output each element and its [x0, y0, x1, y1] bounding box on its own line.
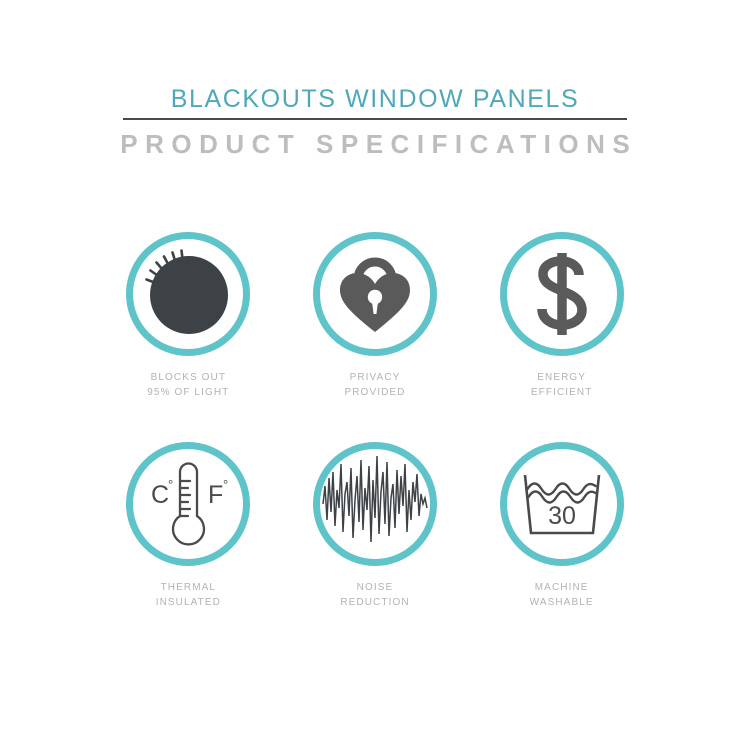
fahrenheit-degree: ° — [223, 477, 228, 492]
feature-grid: BLOCKS OUT 95% OF LIGHT PRIVACY PROVIDED — [95, 232, 655, 610]
icon-circle: C ° F ° — [126, 442, 250, 566]
caption-line-1: BLOCKS OUT — [147, 370, 229, 385]
feature-energy: ENERGY EFFICIENT — [468, 232, 655, 400]
icon-circle — [500, 232, 624, 356]
heart-padlock-icon — [332, 250, 418, 338]
feature-caption: ENERGY EFFICIENT — [531, 370, 593, 400]
blocked-sun-icon — [132, 238, 244, 350]
caption-line-2: REDUCTION — [340, 595, 409, 610]
feature-caption: MACHINE WASHABLE — [530, 580, 594, 610]
wash-temperature-label: 30 — [548, 502, 576, 530]
feature-caption: BLOCKS OUT 95% OF LIGHT — [147, 370, 229, 400]
page-title: BLACKOUTS WINDOW PANELS — [0, 84, 750, 114]
icon-circle: 30 — [500, 442, 624, 566]
thermometer-icon: C ° F ° — [137, 456, 239, 552]
feature-caption: PRIVACY PROVIDED — [344, 370, 405, 400]
feature-washable: 30 MACHINE WASHABLE — [468, 442, 655, 610]
celsius-label: C — [151, 481, 169, 509]
title-divider — [123, 118, 627, 120]
page-subtitle: PRODUCT SPECIFICATIONS — [0, 129, 750, 159]
icon-circle — [126, 232, 250, 356]
feature-privacy: PRIVACY PROVIDED — [282, 232, 469, 400]
header: BLACKOUTS WINDOW PANELS PRODUCT SPECIFIC… — [0, 84, 750, 159]
caption-line-2: 95% OF LIGHT — [147, 385, 229, 400]
feature-thermal: C ° F ° THERMAL INSULATED — [95, 442, 282, 610]
wash-tub-icon: 30 — [519, 467, 605, 541]
caption-line-1: THERMAL — [156, 580, 221, 595]
caption-line-2: WASHABLE — [530, 595, 594, 610]
icon-circle — [313, 442, 437, 566]
caption-line-1: PRIVACY — [344, 370, 405, 385]
caption-line-2: EFFICIENT — [531, 385, 593, 400]
caption-line-1: ENERGY — [531, 370, 593, 385]
sound-wave-icon — [313, 442, 437, 566]
caption-line-1: NOISE — [340, 580, 409, 595]
feature-caption: THERMAL INSULATED — [156, 580, 221, 610]
caption-line-2: PROVIDED — [344, 385, 405, 400]
caption-line-1: MACHINE — [530, 580, 594, 595]
feature-noise: NOISE REDUCTION — [282, 442, 469, 610]
feature-caption: NOISE REDUCTION — [340, 580, 409, 610]
fahrenheit-label: F — [208, 481, 223, 509]
feature-blocks-light: BLOCKS OUT 95% OF LIGHT — [95, 232, 282, 400]
infographic-page: BLACKOUTS WINDOW PANELS PRODUCT SPECIFIC… — [0, 0, 750, 750]
celsius-degree: ° — [168, 477, 173, 492]
icon-circle — [313, 232, 437, 356]
caption-line-2: INSULATED — [156, 595, 221, 610]
dollar-sign-icon — [522, 248, 602, 340]
